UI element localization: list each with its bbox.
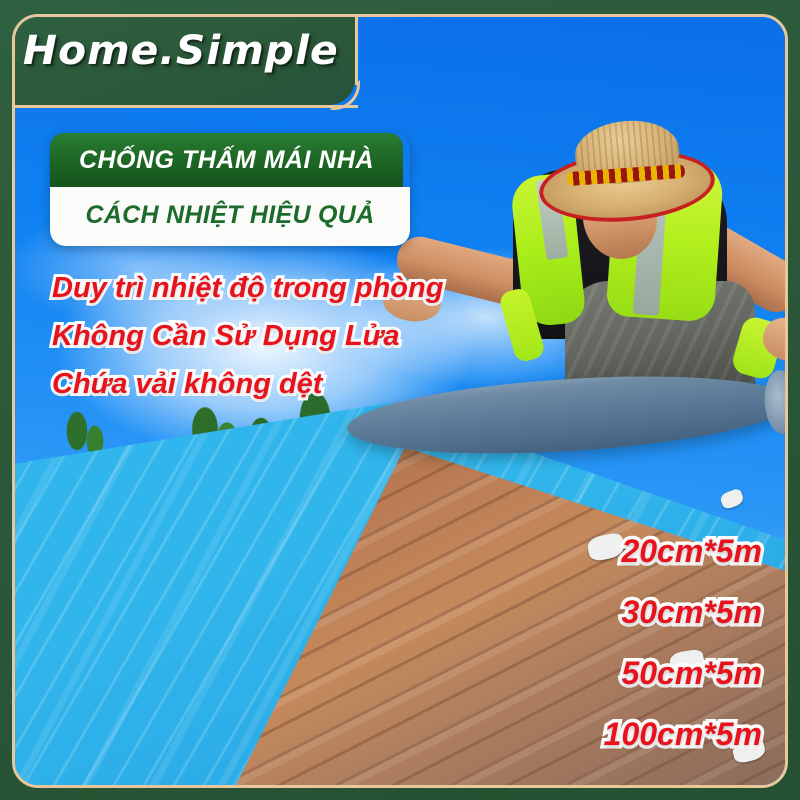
brand-logo: Home.Simple <box>23 28 339 74</box>
size-option: 100cm*5m <box>604 718 762 750</box>
promo-banner: CHỐNG THẤM MÁI NHÀ CÁCH NHIỆT HIỆU QUẢ <box>50 133 410 246</box>
feature-item: Không Cần Sử Dụng Lửa <box>52 322 443 351</box>
size-option: 20cm*5m <box>604 535 762 567</box>
size-option-list: 20cm*5m 30cm*5m 50cm*5m 100cm*5m <box>604 535 762 750</box>
feature-item: Chứa vải không dệt <box>52 370 443 399</box>
product-promo-image: Home.Simple CHỐNG THẤM MÁI NHÀ CÁCH NHIỆ… <box>0 0 800 800</box>
size-option: 50cm*5m <box>604 657 762 689</box>
feature-item: Duy trì nhiệt độ trong phòng <box>52 274 443 303</box>
promo-headline: CHỐNG THẤM MÁI NHÀ <box>50 133 403 187</box>
notch-border-horizontal <box>15 105 358 108</box>
size-option: 30cm*5m <box>604 596 762 628</box>
notch-border-vertical <box>355 17 358 85</box>
feature-list: Duy trì nhiệt độ trong phòng Không Cần S… <box>52 274 443 418</box>
promo-subheadline: CÁCH NHIỆT HIỆU QUẢ <box>50 187 410 246</box>
